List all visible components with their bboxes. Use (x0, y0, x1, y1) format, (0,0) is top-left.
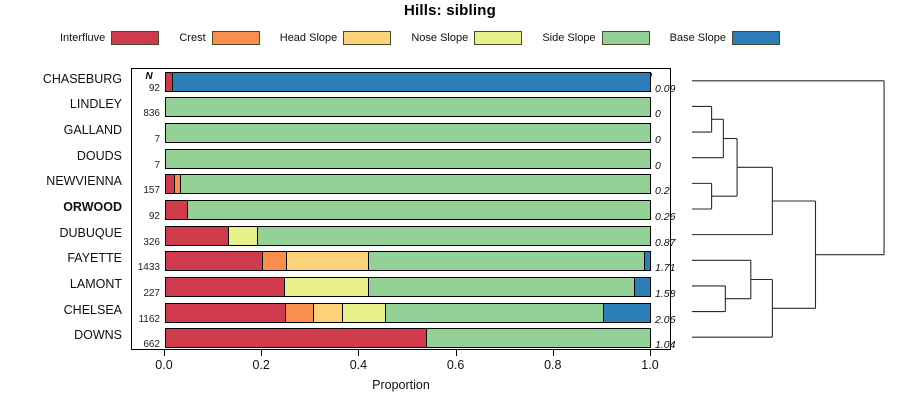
stacked-bar[interactable] (165, 72, 651, 92)
plot-panel: N H 920.09836070701570.2920.263260.87143… (131, 68, 671, 350)
y-axis-labels: CHASEBURGLINDLEYGALLANDDOUDSNEWVIENNAORW… (0, 68, 128, 350)
legend-item[interactable]: Head Slope (280, 31, 392, 45)
legend-swatch-icon (343, 31, 391, 45)
table-row[interactable]: 1570.2 (132, 172, 670, 198)
legend-label: Base Slope (670, 32, 726, 44)
table-row[interactable]: 920.26 (132, 197, 670, 223)
n-value: 7 (134, 160, 160, 171)
bar-segment[interactable] (166, 252, 263, 270)
bar-segment[interactable] (386, 304, 604, 322)
bar-rows: 920.09836070701570.2920.263260.8714331.7… (132, 69, 670, 349)
legend-item[interactable]: Side Slope (542, 31, 649, 45)
bar-segment[interactable] (166, 175, 175, 193)
legend-item[interactable]: Nose Slope (411, 31, 522, 45)
legend-swatch-icon (111, 31, 159, 45)
bar-segment[interactable] (166, 73, 173, 91)
bar-segment[interactable] (166, 98, 650, 116)
x-axis-title: Proportion (131, 378, 671, 392)
bar-segment[interactable] (166, 201, 188, 219)
table-row[interactable]: 14331.71 (132, 248, 670, 274)
legend-label: Side Slope (542, 32, 595, 44)
n-value: 7 (134, 134, 160, 145)
y-axis-tick-label: CHASEBURG (43, 72, 122, 86)
x-axis-tick-label: 1.0 (630, 358, 670, 372)
x-axis-tick (261, 350, 262, 356)
legend-swatch-icon (732, 31, 780, 45)
n-value: 836 (134, 108, 160, 119)
legend-label: Head Slope (280, 32, 338, 44)
y-axis-tick-label: ORWOOD (63, 200, 122, 214)
x-axis-tick (553, 350, 554, 356)
x-axis-tick (164, 350, 165, 356)
bar-segment[interactable] (635, 278, 650, 296)
x-axis-tick (358, 350, 359, 356)
legend-item[interactable]: Interfluve (60, 31, 159, 45)
bar-segment[interactable] (166, 304, 286, 322)
bar-segment[interactable] (369, 252, 645, 270)
n-value: 92 (134, 83, 160, 94)
legend-label: Nose Slope (411, 32, 468, 44)
y-axis-tick-label: LINDLEY (70, 97, 122, 111)
bar-segment[interactable] (166, 227, 229, 245)
n-value: 92 (134, 211, 160, 222)
stacked-bar[interactable] (165, 251, 651, 271)
legend-label: Crest (179, 32, 205, 44)
bar-segment[interactable] (181, 175, 650, 193)
legend-swatch-icon (474, 31, 522, 45)
n-value: 326 (134, 237, 160, 248)
bar-segment[interactable] (427, 329, 650, 347)
y-axis-tick-label: FAYETTE (67, 251, 122, 265)
x-axis-tick-label: 0.8 (533, 358, 573, 372)
stacked-bar[interactable] (165, 303, 651, 323)
legend-item[interactable]: Base Slope (670, 31, 780, 45)
table-row[interactable]: 11622.06 (132, 300, 670, 326)
n-value: 157 (134, 185, 160, 196)
y-axis-tick-label: GALLAND (64, 123, 122, 137)
stacked-bar[interactable] (165, 226, 651, 246)
y-axis-tick-label: NEWVIENNA (46, 174, 122, 188)
table-row[interactable]: 70 (132, 120, 670, 146)
bar-segment[interactable] (166, 150, 650, 168)
table-row[interactable]: 6621.04 (132, 325, 670, 351)
x-axis-tick (456, 350, 457, 356)
bar-segment[interactable] (604, 304, 650, 322)
stacked-bar[interactable] (165, 328, 651, 348)
stacked-bar[interactable] (165, 277, 651, 297)
stacked-bar[interactable] (165, 149, 651, 169)
bar-segment[interactable] (343, 304, 387, 322)
stacked-bar[interactable] (165, 200, 651, 220)
x-axis-tick-label: 0.6 (436, 358, 476, 372)
bar-segment[interactable] (263, 252, 287, 270)
bar-segment[interactable] (166, 124, 650, 142)
bar-segment[interactable] (286, 304, 314, 322)
table-row[interactable]: 2271.58 (132, 274, 670, 300)
table-row[interactable]: 70 (132, 146, 670, 172)
legend-item[interactable]: Crest (179, 31, 259, 45)
stacked-bar[interactable] (165, 97, 651, 117)
bar-segment[interactable] (369, 278, 635, 296)
x-axis-tick-label: 0.0 (144, 358, 184, 372)
n-value: 662 (134, 339, 160, 350)
x-axis-tick (650, 350, 651, 356)
x-axis-tick-label: 0.2 (241, 358, 281, 372)
n-value: 1433 (134, 262, 160, 273)
bar-segment[interactable] (287, 252, 369, 270)
bar-segment[interactable] (166, 329, 427, 347)
chart-root: Hills: sibling InterfluveCrestHead Slope… (0, 0, 900, 420)
legend-swatch-icon (212, 31, 260, 45)
legend-swatch-icon (602, 31, 650, 45)
stacked-bar[interactable] (165, 123, 651, 143)
bar-segment[interactable] (258, 227, 650, 245)
bar-segment[interactable] (645, 252, 650, 270)
y-axis-tick-label: DOWNS (74, 328, 122, 342)
y-axis-tick-label: DUBUQUE (59, 226, 122, 240)
n-value: 1162 (134, 314, 160, 325)
page-title: Hills: sibling (0, 2, 900, 19)
bar-segment[interactable] (229, 227, 258, 245)
bar-segment[interactable] (314, 304, 343, 322)
y-axis-tick-label: CHELSEA (64, 303, 122, 317)
table-row[interactable]: 3260.87 (132, 223, 670, 249)
bar-segment[interactable] (173, 73, 650, 91)
stacked-bar[interactable] (165, 174, 651, 194)
dendrogram (676, 60, 900, 360)
bar-segment[interactable] (285, 278, 370, 296)
bar-segment[interactable] (166, 278, 285, 296)
bar-segment[interactable] (188, 201, 650, 219)
n-value: 227 (134, 288, 160, 299)
table-row[interactable]: 8360 (132, 95, 670, 121)
y-axis-tick-label: DOUDS (77, 149, 122, 163)
legend-label: Interfluve (60, 32, 105, 44)
y-axis-tick-label: LAMONT (70, 277, 122, 291)
legend: InterfluveCrestHead SlopeNose SlopeSide … (60, 28, 780, 48)
table-row[interactable]: 920.09 (132, 69, 670, 95)
x-axis-tick-label: 0.4 (338, 358, 378, 372)
dendrogram-svg (676, 60, 900, 360)
